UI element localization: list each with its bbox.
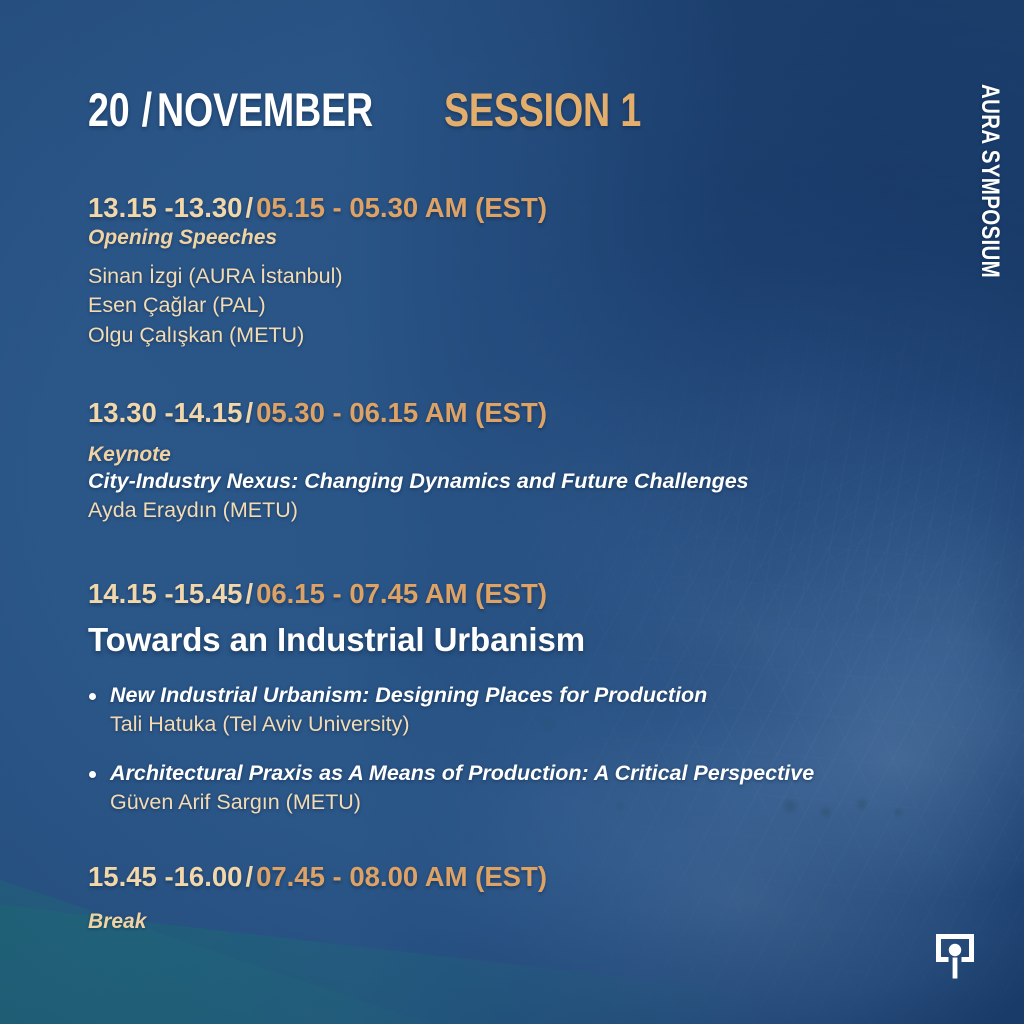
slot-headline: Towards an Industrial Urbanism <box>88 620 928 660</box>
slot-person: Ayda Eraydın (METU) <box>88 496 928 526</box>
slot-person: Sinan İzgi (AURA İstanbul) <box>88 262 928 292</box>
masthead-month: NOVEMBER <box>157 86 373 133</box>
slot-time-separator: / <box>242 861 256 892</box>
slot-time-est: 07.45 - 08.00 AM (EST) <box>256 861 547 892</box>
slot-time-local: 14.15 -15.45 <box>88 578 242 609</box>
slot-time-local: 13.15 -13.30 <box>88 192 242 223</box>
bullet-icon <box>89 693 96 700</box>
vertical-brand-label: AURA SYMPOSIUM <box>977 84 1002 278</box>
talk-list: New Industrial Urbanism: Designing Place… <box>88 682 928 817</box>
slot-time-est: 05.30 - 06.15 AM (EST) <box>256 397 547 428</box>
slot-time-local: 13.30 -14.15 <box>88 397 242 428</box>
talk-speaker: Tali Hatuka (Tel Aviv University) <box>110 710 928 740</box>
masthead-session: SESSION 1 <box>444 86 641 133</box>
symposium-schedule-poster: 20/NOVEMBER SESSION 1 AURA SYMPOSIUM 13.… <box>0 0 1024 1024</box>
talk-title: New Industrial Urbanism: Designing Place… <box>110 682 928 710</box>
masthead-day: 20 <box>88 86 130 133</box>
slot-time-separator: / <box>242 397 256 428</box>
schedule-slot: 13.15 -13.30/05.15 - 05.30 AM (EST) Open… <box>88 192 928 351</box>
schedule-slot: 15.45 -16.00/07.45 - 08.00 AM (EST) Brea… <box>88 861 928 935</box>
list-item: Architectural Praxis as A Means of Produ… <box>88 760 928 818</box>
schedule-slot: 13.30 -14.15/05.30 - 06.15 AM (EST) Keyn… <box>88 397 928 526</box>
masthead-space <box>427 86 440 133</box>
slot-time: 14.15 -15.45/06.15 - 07.45 AM (EST) <box>88 578 928 610</box>
talk-title: Architectural Praxis as A Means of Produ… <box>110 760 928 788</box>
slot-time-est: 05.15 - 05.30 AM (EST) <box>256 192 547 223</box>
schedule-list: 13.15 -13.30/05.15 - 05.30 AM (EST) Open… <box>88 192 928 935</box>
slot-time: 13.15 -13.30/05.15 - 05.30 AM (EST) <box>88 192 928 224</box>
slot-time-local: 15.45 -16.00 <box>88 861 242 892</box>
poster-masthead: 20/NOVEMBER SESSION 1 <box>88 86 690 133</box>
slot-time: 15.45 -16.00/07.45 - 08.00 AM (EST) <box>88 861 928 893</box>
bullet-icon <box>89 771 96 778</box>
list-item: New Industrial Urbanism: Designing Place… <box>88 682 928 740</box>
slot-time-separator: / <box>242 192 256 223</box>
slot-person: Olgu Çalışkan (METU) <box>88 321 928 351</box>
aura-logo-icon <box>932 930 978 982</box>
talk-speaker: Güven Arif Sargın (METU) <box>110 788 928 818</box>
masthead-separator: / <box>140 86 153 133</box>
slot-time: 13.30 -14.15/05.30 - 06.15 AM (EST) <box>88 397 928 429</box>
schedule-slot: 14.15 -15.45/06.15 - 07.45 AM (EST) Towa… <box>88 578 928 817</box>
slot-time-est: 06.15 - 07.45 AM (EST) <box>256 578 547 609</box>
slot-time-separator: / <box>242 578 256 609</box>
slot-paper-title: City-Industry Nexus: Changing Dynamics a… <box>88 468 928 496</box>
slot-person: Esen Çağlar (PAL) <box>88 291 928 321</box>
slot-kind-label: Keynote <box>88 441 928 468</box>
slot-kind-label: Opening Speeches <box>88 224 928 251</box>
slot-kind-label: Break <box>88 908 928 935</box>
